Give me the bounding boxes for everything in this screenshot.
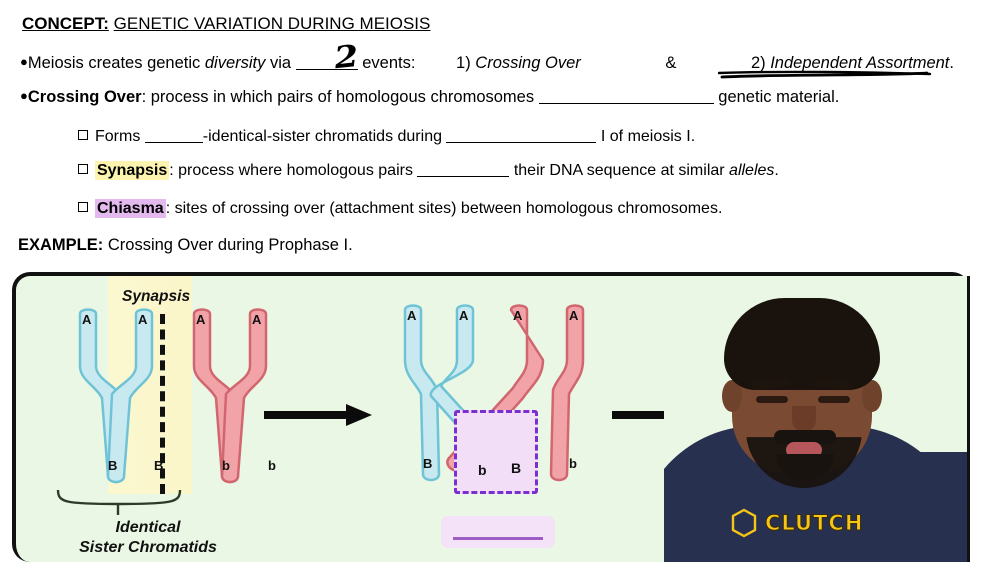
crossover-answer-callout[interactable] [441, 516, 555, 548]
instructor-nose [792, 406, 816, 432]
notes-area: CONCEPT: GENETIC VARIATION DURING MEIOSI… [0, 0, 1000, 268]
example-text: Crossing Over during Prophase I. [108, 236, 353, 254]
stage1-blue-B-left: B [108, 458, 117, 473]
bullet1-pre: Meiosis creates genetic [28, 54, 205, 72]
stage1-blue-A-left: A [82, 312, 91, 327]
synapsis-mid: their DNA sequence at similar [509, 162, 729, 179]
sister-chromatids-bracket-icon [54, 488, 194, 516]
bullet-dot-icon: ● [20, 88, 28, 103]
stage2-blue-B-left: B [423, 456, 432, 471]
stage1-pink-A-left: A [196, 312, 205, 327]
bullet-crossing-over: ●Crossing Over: process in which pairs o… [20, 88, 839, 106]
sub-bullet-forms: Forms -identical-sister chromatids durin… [78, 128, 695, 146]
stage1-blue-A-right: A [138, 312, 147, 327]
stage2-pink-A-left: A [513, 308, 522, 323]
stage1-pink-b-right: b [268, 458, 276, 473]
bullet-dot-icon: ● [20, 54, 28, 69]
synapsis-post: . [774, 162, 778, 179]
instructor-eye-left [756, 396, 788, 403]
event-2-period: . [949, 54, 954, 72]
crossing-over-tail: genetic material. [718, 88, 839, 106]
alleles-italic: alleles [729, 162, 774, 179]
forms-mid: -identical-sister chromatids during [203, 128, 447, 145]
handwritten-underline-icon [718, 70, 932, 79]
event-1-label: Crossing Over [475, 54, 580, 72]
stage1-pink-b-left: b [222, 458, 230, 473]
arrow-right-1-icon [264, 404, 372, 426]
event-1-number: 1) [456, 54, 471, 72]
synapsis-pre: : process where homologous pairs [169, 162, 417, 179]
identical-sister-chromatids-label: Identical Sister Chromatids [78, 518, 218, 558]
stage1-pink-A-right: A [252, 312, 261, 327]
identical-line2: Sister Chromatids [79, 539, 217, 556]
crossover-label-b: b [478, 462, 487, 478]
panel-right-border [967, 276, 970, 562]
stage2-pink-A-right: A [569, 308, 578, 323]
instructor-hair [724, 298, 880, 390]
hexagon-icon [730, 508, 758, 538]
chiasma-term: Chiasma [95, 199, 166, 218]
ampersand: & [665, 54, 676, 72]
clutch-logo: CLUTCH [730, 508, 863, 538]
sub-bullet-chiasma: Chiasma: sites of crossing over (attachm… [78, 200, 722, 218]
bullet1-italic: diversity [205, 54, 266, 72]
crossing-over-term: Crossing Over [28, 88, 142, 106]
example-label: EXAMPLE: [18, 236, 103, 254]
synapsis-term: Synapsis [95, 161, 169, 180]
bullet1-mid: via [265, 54, 295, 72]
example-line: EXAMPLE: Crossing Over during Prophase I… [18, 236, 353, 255]
concept-heading: CONCEPT: GENETIC VARIATION DURING MEIOSI… [22, 14, 430, 34]
concept-title: GENETIC VARIATION DURING MEIOSIS [114, 14, 431, 33]
handwritten-answer-2: 2 [333, 39, 361, 76]
synapsis-diagram-label: Synapsis [122, 288, 190, 306]
bullet1-post: events: [358, 54, 416, 72]
instructor-video-overlay[interactable]: CLUTCH [664, 276, 970, 562]
square-bullet-icon [78, 130, 88, 140]
chiasma-text: : sites of crossing over (attachment sit… [166, 200, 723, 217]
instructor-eye-right [818, 396, 850, 403]
crossing-over-text: : process in which pairs of homologous c… [142, 88, 535, 106]
identical-line1: Identical [116, 519, 181, 536]
crossover-label-B: B [511, 460, 521, 476]
stage1-blue-B-right: B [154, 458, 163, 473]
blank-exchange[interactable] [539, 103, 714, 104]
concept-label: CONCEPT: [22, 14, 109, 33]
chromosome-pair-1-icon [66, 306, 296, 496]
square-bullet-icon [78, 202, 88, 212]
crossover-highlight-box [454, 410, 538, 494]
blank-prophase[interactable] [446, 142, 596, 143]
clutch-wordmark: CLUTCH [765, 511, 863, 535]
forms-pre: Forms [95, 128, 145, 145]
forms-post: I of meiosis I. [596, 128, 695, 145]
stage2-pink-b-right: b [569, 456, 577, 471]
blank-non[interactable] [145, 142, 203, 143]
blank-align[interactable] [417, 176, 509, 177]
sub-bullet-synapsis: Synapsis: process where homologous pairs… [78, 162, 779, 180]
stage2-blue-A-left: A [407, 308, 416, 323]
square-bullet-icon [78, 164, 88, 174]
stage2-blue-A-right: A [459, 308, 468, 323]
stage1-chromosomes: A A B B A A b b [66, 306, 296, 501]
callout-blank-line [453, 537, 543, 540]
